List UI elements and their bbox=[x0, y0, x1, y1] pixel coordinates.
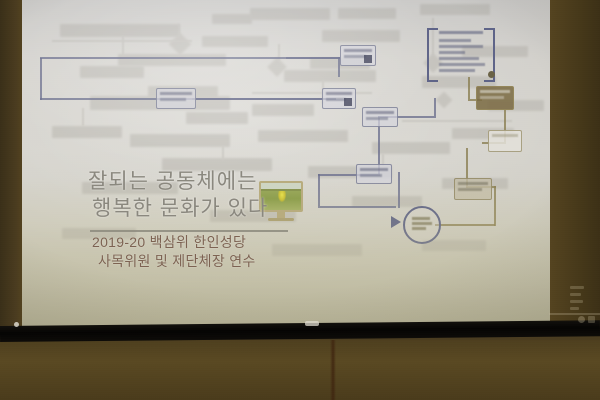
note-bracket-box bbox=[427, 28, 495, 78]
wall-seam bbox=[330, 340, 336, 400]
photo-of-projection-screen: 잘되는 공동체에는 행복한 문화가 있다 2019-20 백삼위 한인성당 사목… bbox=[0, 0, 600, 400]
slide-flowchart bbox=[22, 0, 550, 328]
slide-subtitle: 2019-20 백삼위 한인성당 사목위원 및 제단체장 연수 bbox=[92, 233, 322, 271]
wall-right bbox=[549, 0, 600, 330]
flow-dot-connector bbox=[488, 71, 495, 78]
flow-circle-node bbox=[403, 206, 441, 244]
wall-fixture-icon bbox=[578, 316, 585, 323]
slide-title-line-1: 잘되는 공동체에는 bbox=[88, 168, 338, 195]
flow-node-lower-mid bbox=[356, 164, 392, 184]
wall-mark-4 bbox=[570, 307, 579, 310]
flow-node-olive bbox=[476, 86, 514, 110]
flow-node-tan bbox=[454, 178, 492, 200]
flow-node-mid-right bbox=[322, 88, 356, 109]
slide-title-line-2: 행복한 문화가 있다 bbox=[88, 195, 338, 222]
wall-fixture-square bbox=[588, 316, 595, 323]
wall-light-strip bbox=[549, 313, 600, 315]
flow-node-lower-right bbox=[362, 107, 398, 127]
slide-subtitle-line-2: 사목위원 및 제단체장 연수 bbox=[92, 252, 322, 271]
roller-left-tip bbox=[14, 322, 19, 327]
flow-node-top bbox=[340, 45, 376, 66]
wall-mark-3 bbox=[570, 300, 583, 303]
roller-center-knob bbox=[305, 321, 319, 326]
wall-mark-2 bbox=[570, 293, 581, 296]
wall-mark-1 bbox=[570, 286, 584, 289]
projection-screen bbox=[22, 0, 550, 328]
wall-below-screen bbox=[0, 340, 600, 400]
flow-node-mid-left bbox=[156, 88, 196, 109]
flow-arrow-head bbox=[391, 216, 401, 228]
wall-left bbox=[0, 0, 24, 330]
flow-node-pale bbox=[488, 130, 522, 152]
slide-title: 잘되는 공동체에는 행복한 문화가 있다 bbox=[88, 168, 338, 222]
title-divider bbox=[90, 230, 288, 232]
slide-subtitle-line-1: 2019-20 백삼위 한인성당 bbox=[92, 233, 322, 252]
